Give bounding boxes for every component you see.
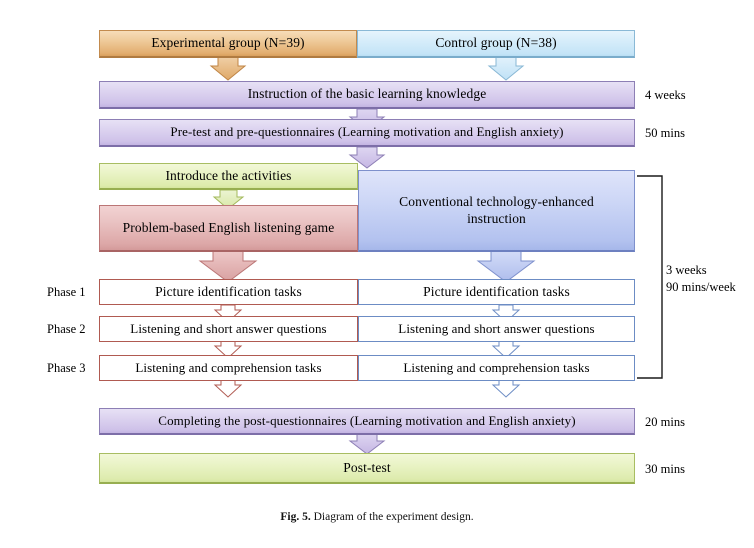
duration-posttest-text: 30 mins	[645, 462, 685, 476]
node-pretest[interactable]: Pre-test and pre-questionnaires (Learnin…	[99, 119, 635, 147]
arrow-postquestionnaires-to-posttest	[350, 433, 384, 454]
arrow-phase3-to-postquestionnaires-control	[493, 380, 519, 397]
figure-caption-text: Diagram of the experiment design.	[314, 511, 474, 523]
duration-post-questionnaires: 20 mins	[645, 415, 685, 430]
duration-post-questionnaires-text: 20 mins	[645, 415, 685, 429]
task-experimental-phase-2-label: Listening and short answer questions	[130, 321, 326, 337]
task-control-phase-1-label: Picture identification tasks	[423, 284, 570, 301]
task-control-phase-3-label: Listening and comprehension tasks	[403, 360, 589, 376]
duration-pretest-text: 50 mins	[645, 126, 685, 140]
task-control-phase-3[interactable]: Listening and comprehension tasks	[358, 355, 635, 381]
arrow-conventional-to-phase1	[478, 251, 534, 282]
phase-label-1: Phase 1	[47, 285, 86, 300]
node-experimental-group[interactable]: Experimental group (N=39)	[99, 30, 357, 58]
arrow-game-to-phase1	[200, 251, 256, 282]
node-conventional-instruction-label: Conventional technology-enhanced instruc…	[381, 194, 612, 228]
phase-label-2: Phase 2	[47, 322, 86, 337]
task-experimental-phase-2[interactable]: Listening and short answer questions	[99, 316, 358, 342]
phase-label-3-text: Phase 3	[47, 361, 86, 375]
duration-phases: 3 weeks 90 mins/week	[666, 262, 736, 296]
duration-posttest: 30 mins	[645, 462, 685, 477]
phase-label-2-text: Phase 2	[47, 322, 86, 336]
phase-duration-bracket	[637, 176, 662, 378]
node-introduce-activities-label: Introduce the activities	[165, 168, 291, 185]
task-experimental-phase-3-label: Listening and comprehension tasks	[135, 360, 321, 376]
node-instruction-label: Instruction of the basic learning knowle…	[248, 86, 487, 103]
figure-caption: Fig. 5. Diagram of the experiment design…	[0, 511, 754, 523]
node-control-group-label: Control group (N=38)	[435, 35, 556, 52]
node-game[interactable]: Problem-based English listening game	[99, 205, 358, 252]
node-control-group[interactable]: Control group (N=38)	[357, 30, 635, 58]
task-experimental-phase-3[interactable]: Listening and comprehension tasks	[99, 355, 358, 381]
node-introduce-activities[interactable]: Introduce the activities	[99, 163, 358, 190]
duration-instruction-text: 4 weeks	[645, 88, 686, 102]
task-control-phase-1[interactable]: Picture identification tasks	[358, 279, 635, 305]
phase-label-3: Phase 3	[47, 361, 86, 376]
node-post-questionnaires-label: Completing the post-questionnaires (Lear…	[158, 413, 575, 429]
arrow-phase3-to-postquestionnaires-experimental	[215, 380, 241, 397]
node-instruction[interactable]: Instruction of the basic learning knowle…	[99, 81, 635, 109]
task-experimental-phase-1-label: Picture identification tasks	[155, 284, 302, 301]
diagram-canvas: Experimental group (N=39) Control group …	[0, 0, 754, 548]
task-control-phase-2[interactable]: Listening and short answer questions	[358, 316, 635, 342]
duration-instruction: 4 weeks	[645, 88, 686, 103]
node-pretest-label: Pre-test and pre-questionnaires (Learnin…	[170, 124, 563, 140]
node-posttest-label: Post-test	[343, 460, 390, 477]
figure-caption-label: Fig. 5.	[280, 511, 310, 523]
duration-phases-line1: 3 weeks	[666, 262, 736, 279]
task-experimental-phase-1[interactable]: Picture identification tasks	[99, 279, 358, 305]
duration-phases-line2: 90 mins/week	[666, 279, 736, 296]
task-control-phase-2-label: Listening and short answer questions	[398, 321, 594, 337]
node-conventional-instruction[interactable]: Conventional technology-enhanced instruc…	[358, 170, 635, 252]
phase-label-1-text: Phase 1	[47, 285, 86, 299]
node-posttest[interactable]: Post-test	[99, 453, 635, 484]
arrow-experimental-to-instruction	[211, 57, 245, 80]
node-game-label: Problem-based English listening game	[123, 220, 335, 237]
arrow-control-to-instruction	[489, 57, 523, 80]
node-experimental-group-label: Experimental group (N=39)	[151, 35, 304, 52]
duration-pretest: 50 mins	[645, 126, 685, 141]
node-post-questionnaires[interactable]: Completing the post-questionnaires (Lear…	[99, 408, 635, 435]
